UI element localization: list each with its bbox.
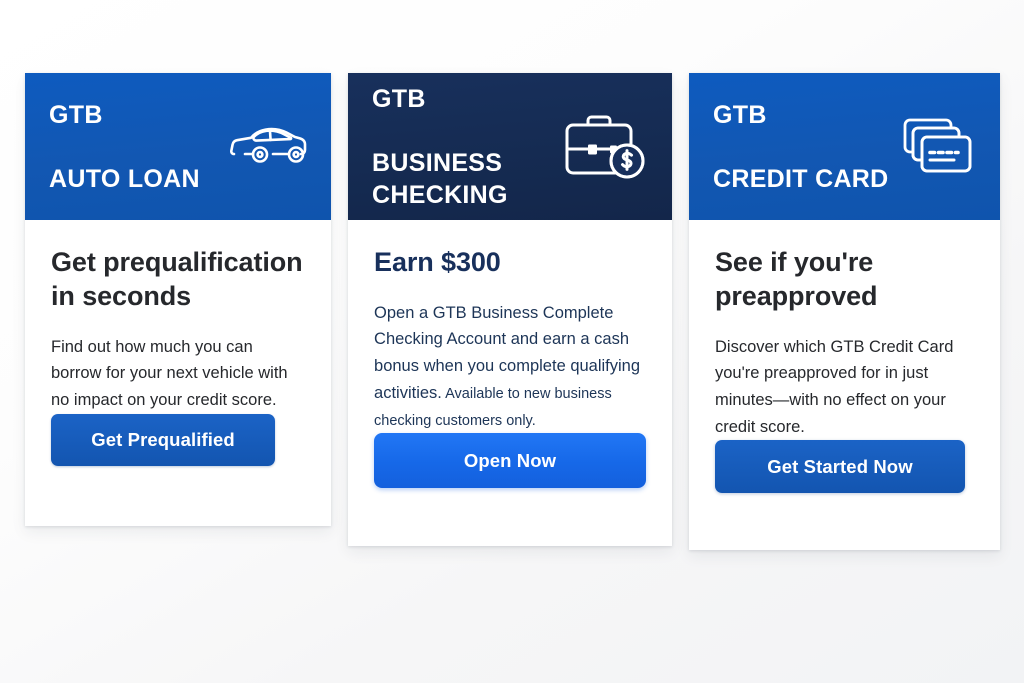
card-description-business-checking: Open a GTB Business Complete Checking Ac… <box>374 300 646 434</box>
product-label: AUTO LOAN <box>49 163 200 195</box>
card-description-auto-loan: Find out how much you can borrow for you… <box>51 334 305 414</box>
card-description-credit-card: Discover which GTB Credit Card you're pr… <box>715 334 974 441</box>
briefcase-dollar-icon <box>562 111 648 183</box>
card-heading-business-checking: Earn $300 <box>374 246 646 280</box>
car-icon <box>229 124 307 170</box>
product-label: CREDIT CARD <box>713 163 889 195</box>
credit-cards-stack-icon <box>902 115 976 179</box>
product-label: BUSINESS CHECKING <box>372 147 562 211</box>
get-started-now-button[interactable]: Get Started Now <box>715 440 965 493</box>
card-cta-wrap-credit-card: Get Started Now <box>715 440 974 550</box>
card-cta-wrap-auto-loan: Get Prequalified <box>51 414 305 526</box>
get-prequalified-button[interactable]: Get Prequalified <box>51 414 275 466</box>
card-header-title-auto-loan: GTB AUTO LOAN <box>49 73 200 227</box>
brand-label: GTB <box>713 99 889 131</box>
promo-card-credit-card[interactable]: GTB CREDIT CARD See if you' <box>689 73 1000 550</box>
card-header-credit-card: GTB CREDIT CARD <box>689 73 1000 220</box>
brand-label: GTB <box>49 99 200 131</box>
card-body-credit-card: See if you're preapproved Discover which… <box>689 220 1000 550</box>
open-now-button[interactable]: Open Now <box>374 433 646 488</box>
promo-cards-row: GTB AUTO LOAN Get prequalification in <box>25 73 1000 550</box>
card-heading-auto-loan: Get prequalification in seconds <box>51 246 305 314</box>
card-cta-wrap-business-checking: Open Now <box>374 433 646 546</box>
card-header-auto-loan: GTB AUTO LOAN <box>25 73 331 220</box>
card-body-business-checking: Earn $300 Open a GTB Business Complete C… <box>348 220 672 546</box>
promo-card-business-checking[interactable]: GTB BUSINESS CHECKING Earn $300 <box>348 73 672 546</box>
card-heading-credit-card: See if you're preapproved <box>715 246 974 314</box>
card-body-auto-loan: Get prequalification in seconds Find out… <box>25 220 331 526</box>
brand-label: GTB <box>372 83 562 115</box>
card-header-business-checking: GTB BUSINESS CHECKING <box>348 73 672 220</box>
promo-card-auto-loan[interactable]: GTB AUTO LOAN Get prequalification in <box>25 73 331 526</box>
card-header-title-credit-card: GTB CREDIT CARD <box>713 73 889 227</box>
card-header-title-business-checking: GTB BUSINESS CHECKING <box>372 73 562 243</box>
